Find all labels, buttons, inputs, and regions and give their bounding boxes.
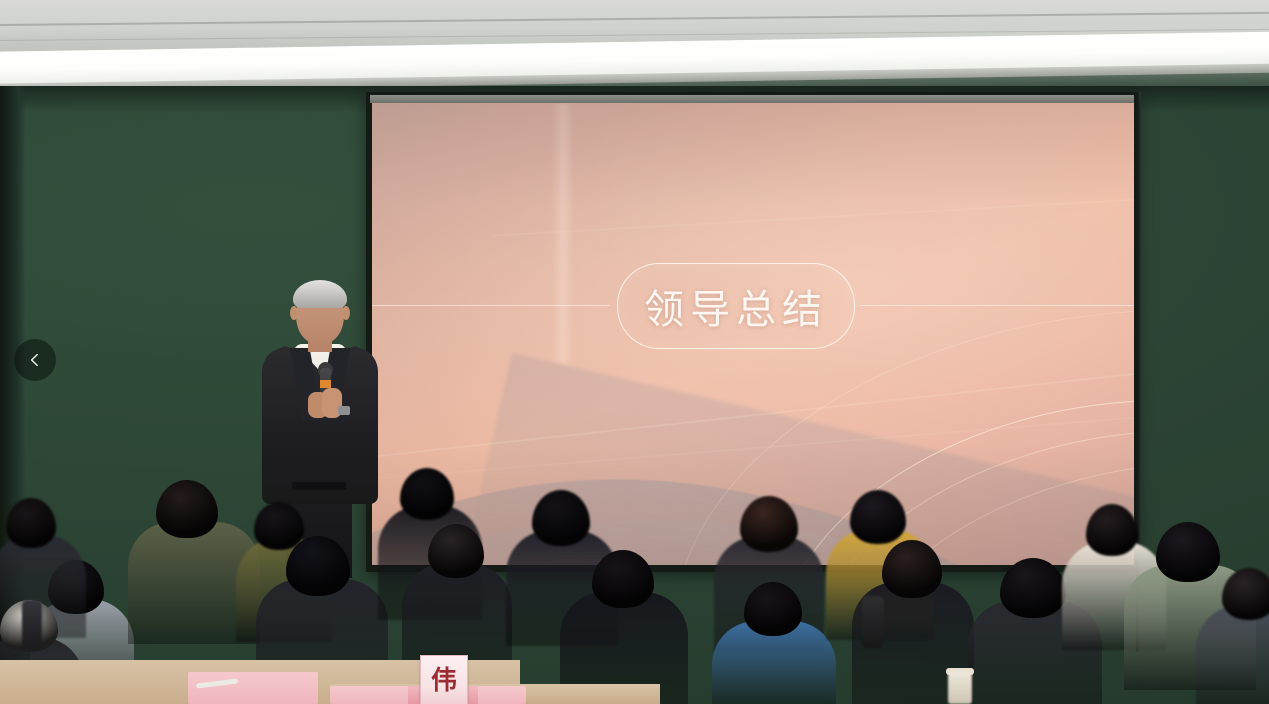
audience-member-head <box>592 550 654 608</box>
handout-paper-left <box>188 672 318 704</box>
audience-member-body <box>1196 605 1269 704</box>
audience-member-head <box>1222 568 1269 620</box>
audience-member-head <box>6 498 56 548</box>
ceiling-seam <box>0 12 1269 26</box>
chevron-left-icon <box>27 352 43 368</box>
audience-member <box>1196 568 1269 704</box>
audience-member-head <box>400 468 454 520</box>
slide-title: 领导总结 <box>644 277 828 335</box>
presenter-hair <box>293 280 347 308</box>
water-bottle-right <box>862 596 884 648</box>
projection-screen-roller <box>370 95 1134 103</box>
slide-title-rule-left <box>372 305 610 306</box>
audience-member-head <box>286 536 350 596</box>
name-card: 伟 <box>420 655 468 704</box>
previous-slide-button[interactable] <box>14 339 56 381</box>
audience-member-head <box>156 480 218 538</box>
name-card-label: 伟 <box>431 668 457 694</box>
cup <box>948 672 972 704</box>
audience-member-head <box>532 490 590 546</box>
audience-member-head <box>882 540 942 598</box>
audience-member-head <box>740 496 798 552</box>
audience-member-head <box>1000 558 1066 618</box>
audience-member-head <box>850 490 906 544</box>
microphone-band <box>320 380 331 388</box>
presenter-watch <box>338 406 350 415</box>
slide-title-pill: 领导总结 <box>617 263 855 349</box>
audience-member <box>560 550 688 704</box>
slide-title-rule-right <box>860 305 1134 306</box>
water-bottle-left <box>22 600 42 648</box>
audience-member <box>712 582 836 704</box>
audience-member-head <box>744 582 802 636</box>
audience-member-head <box>428 524 484 578</box>
presentation-photo: 领导总结 伟 <box>0 0 1269 704</box>
